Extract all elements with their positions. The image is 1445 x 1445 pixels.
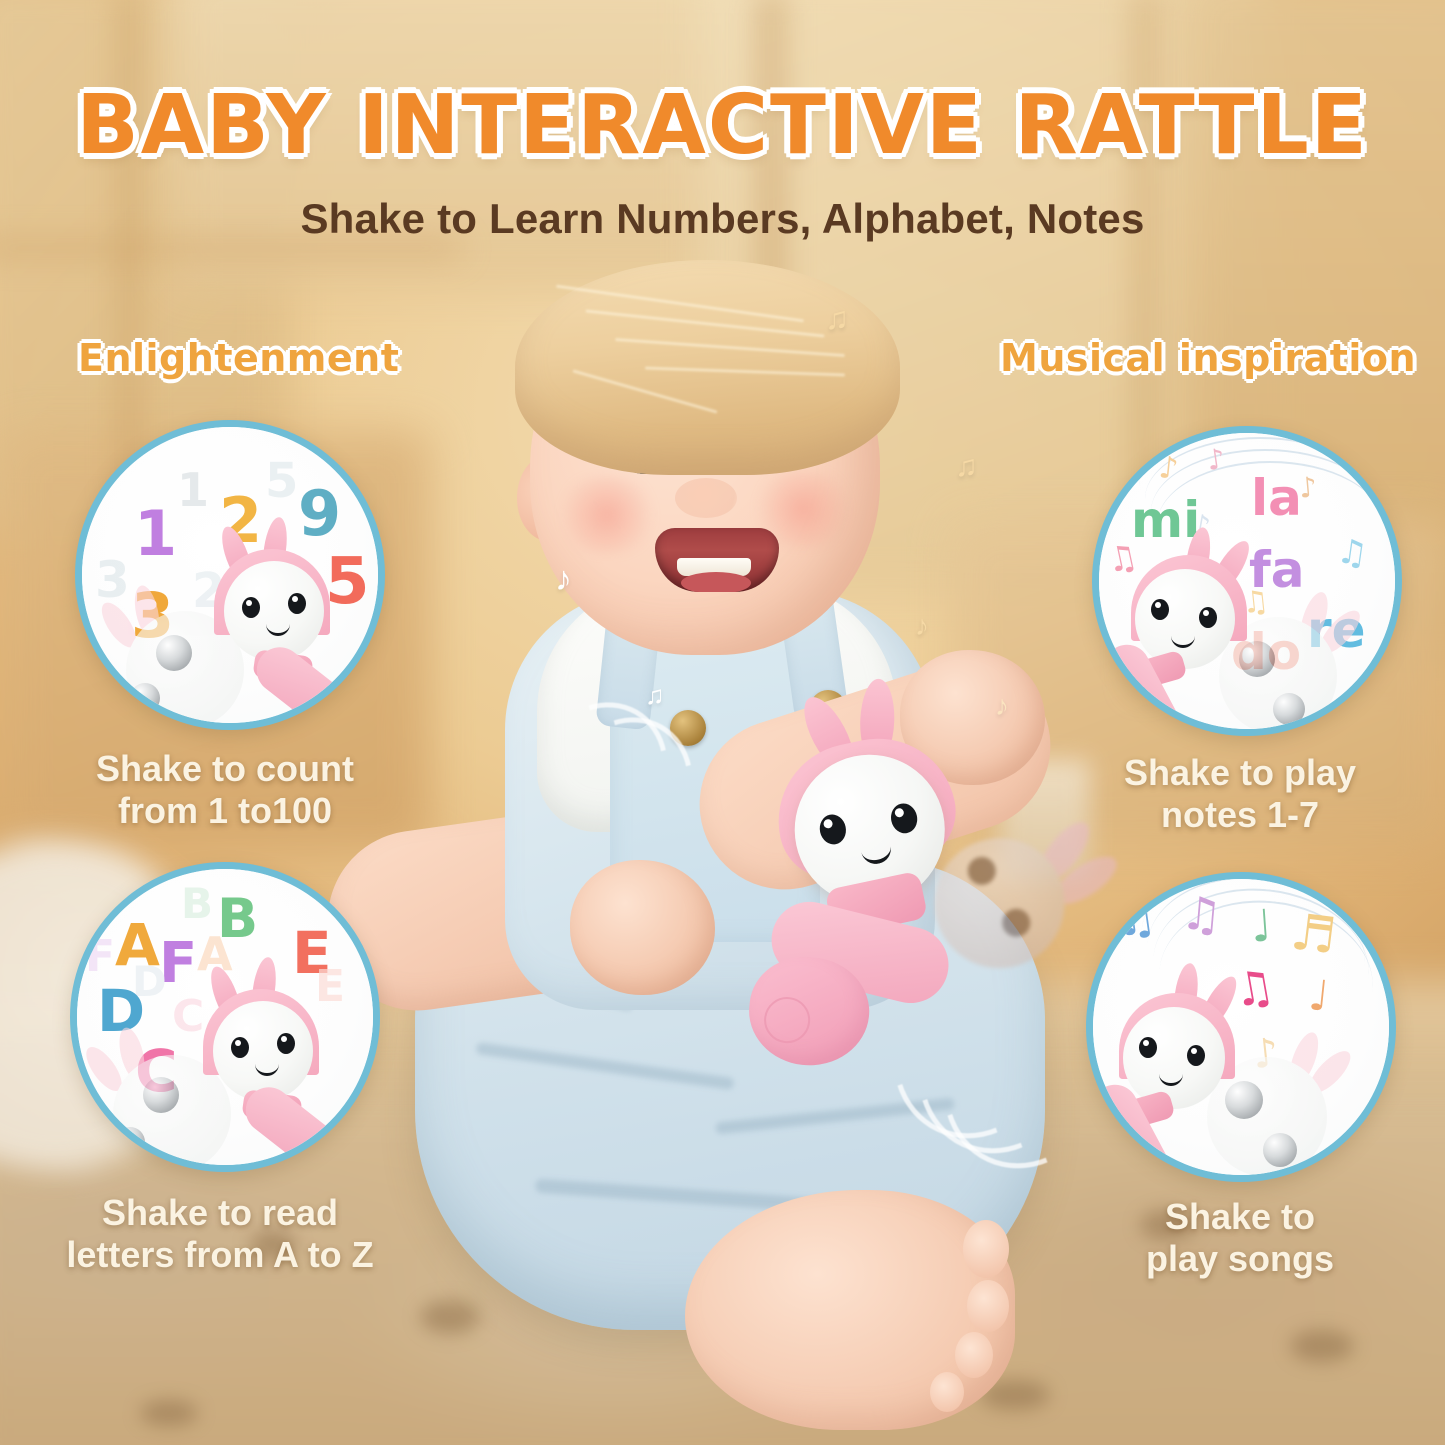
rattle-eye [1139,1037,1157,1058]
solfege-glyph: la [1251,469,1302,527]
baby-toe [930,1372,964,1412]
music-note-glyph: ♩ [1249,900,1273,952]
rattle-face [1123,1007,1225,1109]
music-note-glyph: ♫ [645,680,665,711]
caption-line: play songs [1090,1238,1390,1280]
rattle-eye [277,1033,295,1054]
rug-pattern [140,1400,198,1426]
baby-photo [355,260,1095,1440]
baby-cheek [552,476,662,554]
caption-line: from 1 to100 [55,790,395,832]
page-subtitle: Shake to Learn Numbers, Alphabet, Notes [0,195,1445,243]
rattle-eye [1151,599,1169,620]
music-note-glyph: ♪ [995,690,1009,722]
rattle-eye [888,801,920,836]
page-title: BABY INTERACTIVE RATTLE [0,78,1445,173]
section-heading-musical: Musical inspiration [1000,336,1416,380]
caption-line: Shake to count [55,748,395,790]
feature-caption-letters: Shake to read letters from A to Z [40,1192,400,1277]
rattle-eye [1187,1045,1205,1066]
music-note-glyph: ♫ [955,450,978,484]
feature-circle-songs[interactable]: ♫♫♩♬♫♩♪ [1086,872,1396,1182]
rattle-handle [247,638,362,730]
letter-glyph: B [181,879,213,928]
caption-line: Shake to play [1080,752,1400,794]
feature-caption-songs: Shake to play songs [1090,1196,1390,1281]
number-glyph: 1 [177,463,209,517]
music-note-glyph: ♬ [1288,902,1340,965]
music-note-glyph: ♪ [915,610,929,642]
feature-caption-notes: Shake to play notes 1-7 [1080,752,1400,837]
music-note-glyph: ♫ [825,300,849,337]
music-note-glyph: ♪ [1157,450,1180,487]
product-infographic: ♫♪♫♪♫♪ BABY INTERACTIVE RATTLE Shake to … [0,0,1445,1445]
mini-rattle [193,975,380,1165]
feature-caption-count: Shake to count from 1 to100 [55,748,395,833]
number-glyph: 1 [134,497,177,570]
rattle-face [224,561,324,661]
rattle-smile [860,841,894,867]
feature-circle-notes[interactable]: ♫♪♪♪♪♫♫ milafaredo [1092,426,1402,736]
feature-circle-letters[interactable]: BBAFFAEDEDCC [70,862,380,1172]
music-note-glyph: ♫ [1111,888,1159,947]
mini-rattle [1109,541,1299,731]
caption-line: Shake to [1090,1196,1390,1238]
baby-hair [515,260,900,475]
feature-circle-count[interactable]: 152913253 [75,420,385,730]
caption-line: letters from A to Z [40,1234,400,1276]
rattle-eye [231,1037,249,1058]
rattle-eye [242,597,260,618]
baby-toe [963,1220,1009,1278]
baby-tongue [681,572,751,592]
baby-left-fist [570,860,715,995]
baby-toe [967,1280,1009,1332]
mini-rattle [1099,979,1289,1169]
rattle-eye [1199,607,1217,628]
baby-toe [955,1332,993,1378]
music-note-glyph: ♪ [555,560,572,599]
rug-pattern [1290,1330,1354,1362]
rattle-face [213,1001,313,1101]
music-note-glyph: ♫ [1179,885,1225,942]
music-note-glyph: ♫ [1334,531,1370,575]
baby-nose [675,478,737,518]
rattle-handle [236,1078,351,1172]
caption-line: notes 1-7 [1080,794,1400,836]
rattle-button [762,995,813,1046]
letter-glyph: F [85,931,115,982]
rattle-eye [288,593,306,614]
baby-mouth [655,528,779,592]
rattle-eye [817,812,849,847]
section-heading-enlightenment: Enlightenment [78,336,399,380]
rattle-face [1135,569,1235,669]
caption-line: Shake to read [40,1192,400,1234]
number-glyph: 5 [265,453,298,509]
mini-rattle [202,535,385,725]
